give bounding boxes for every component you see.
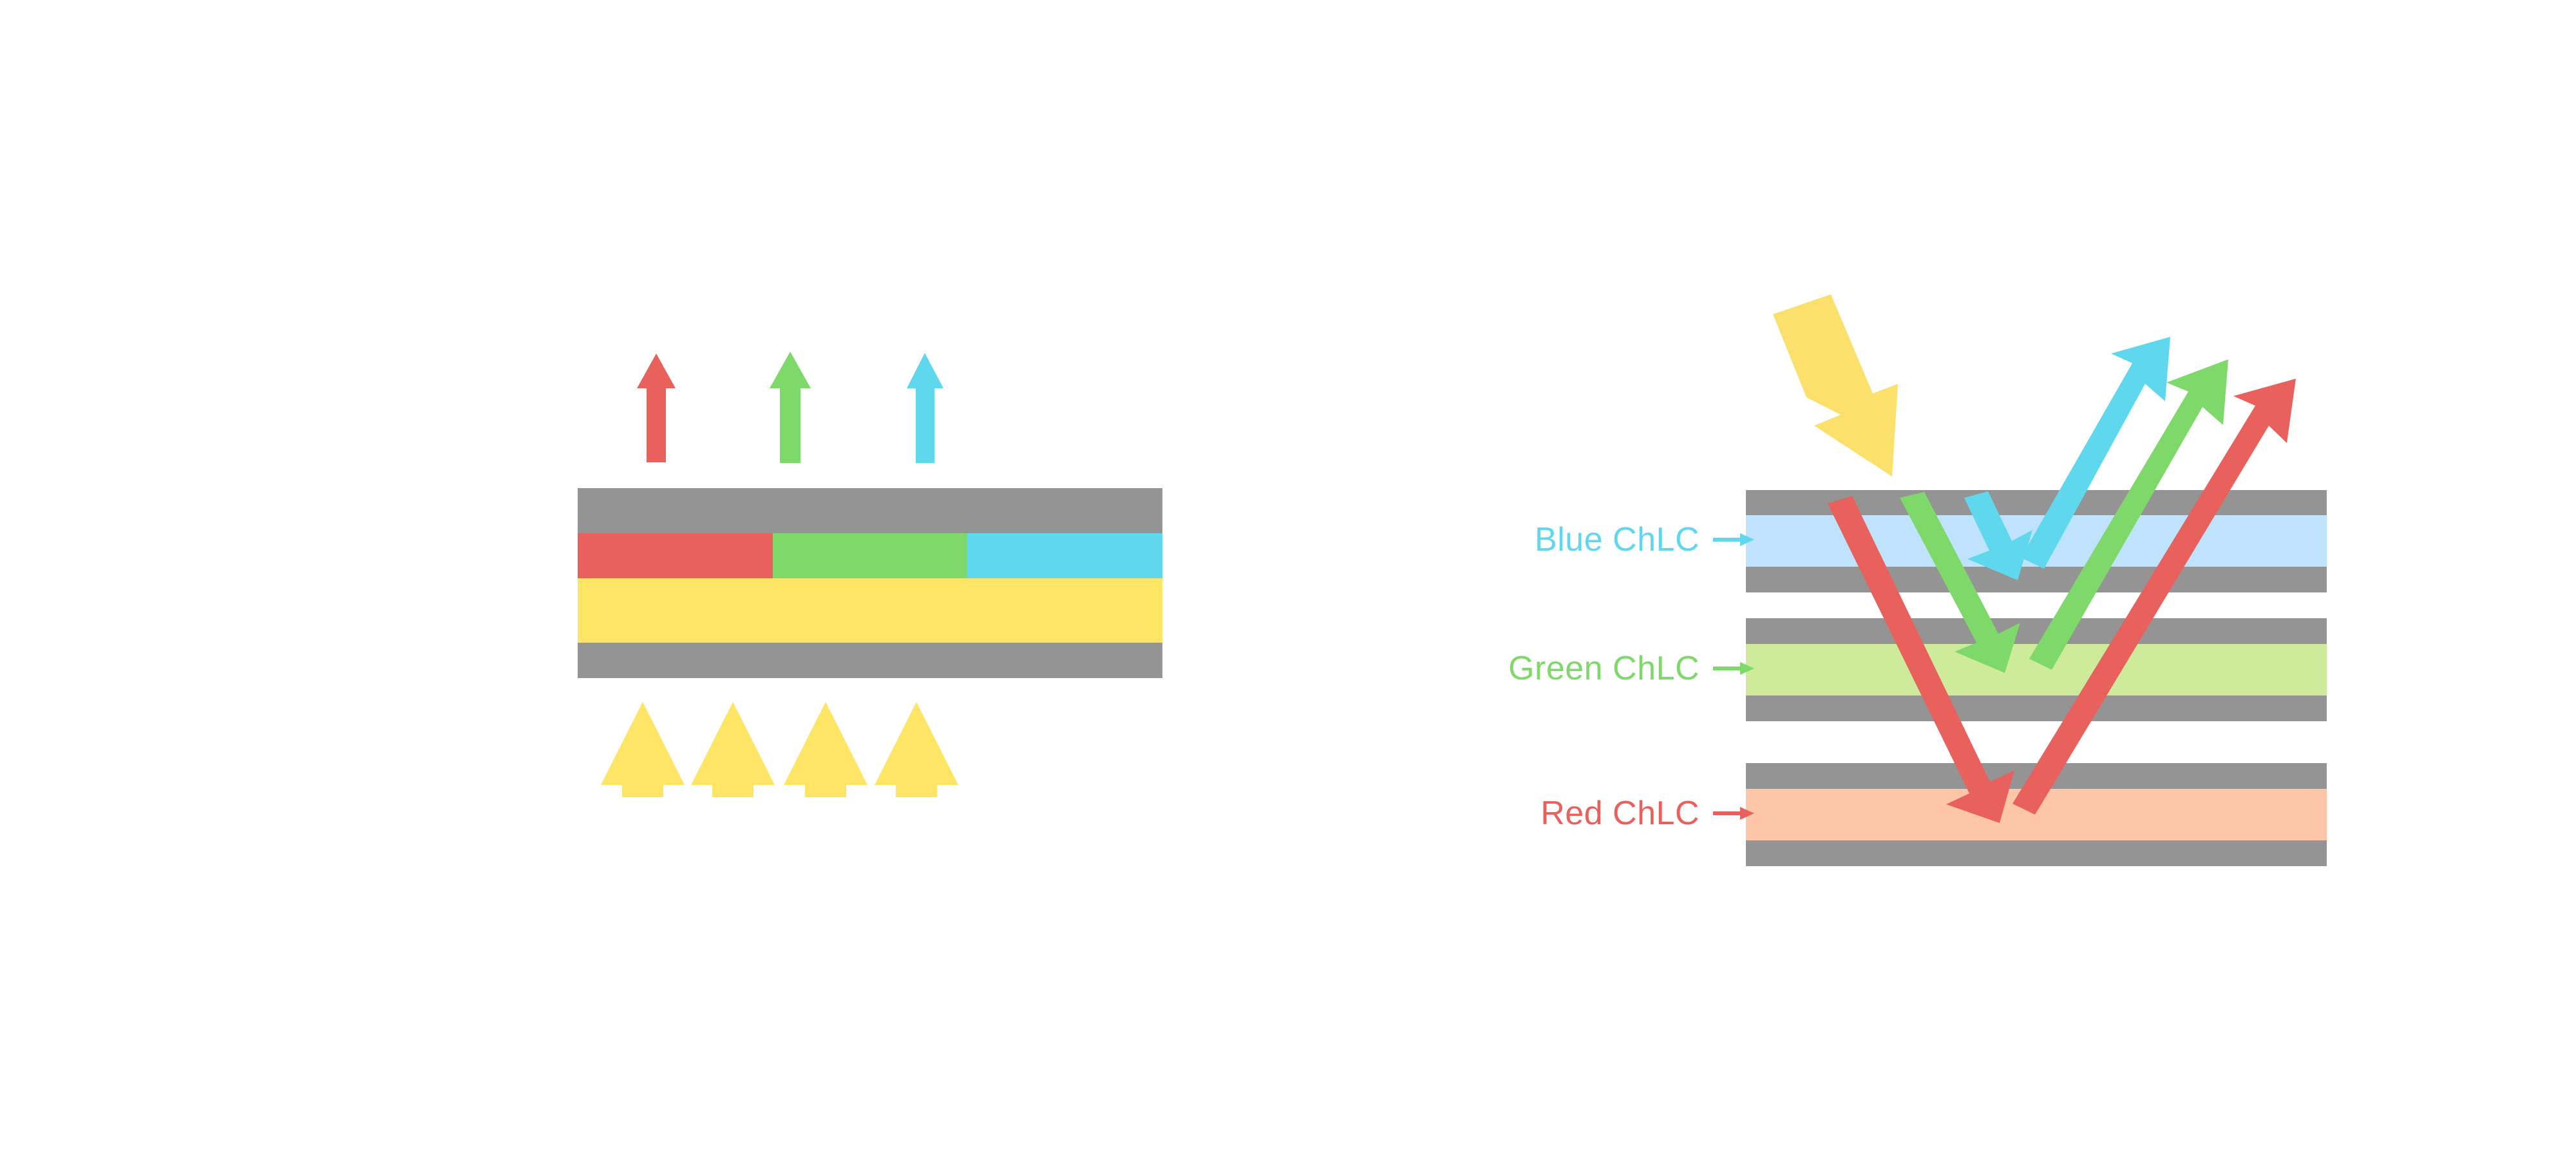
right-panel: Blue ChLC Green ChLC Red ChLC [1508,294,2327,866]
backlight-arrow-4 [875,702,958,797]
green-output-arrow [770,352,811,463]
left-top-gray-electrode [578,488,1162,533]
blue-subpixel [967,533,1162,578]
yellow-backlight-layer [578,578,1162,643]
red-outgoing-ray [2012,379,2296,815]
left-emitted-arrows [637,352,943,463]
red-chlc-label: Red ChLC [1540,795,1700,832]
left-panel [578,352,1162,797]
red-subpixel [578,533,773,578]
red-output-arrow [637,354,676,462]
left-backlight-arrows [601,702,958,797]
incident-white-light-arrow [1773,294,1898,477]
right-panel-labels: Blue ChLC Green ChLC Red ChLC [1508,521,1754,832]
figure-root: Blue ChLC Green ChLC Red ChLC [0,0,2576,1154]
left-bottom-gray-electrode [578,643,1162,678]
red-ray-pair [1828,379,2296,823]
green-chlc-cell [1746,618,2327,721]
red-cell-bottom-electrode [1746,840,2327,866]
left-stack [578,488,1162,678]
green-subpixel [773,533,967,578]
green-cell-top-electrode [1746,618,2327,644]
blue-cell-bottom-electrode [1746,567,2327,592]
chlc-display-diagram: Blue ChLC Green ChLC Red ChLC [0,0,2576,1154]
green-cell-bottom-electrode [1746,695,2327,721]
backlight-arrow-3 [784,702,867,797]
backlight-arrow-2 [691,702,775,797]
blue-output-arrow [907,353,943,463]
backlight-arrow-1 [601,702,685,797]
green-chlc-label: Green ChLC [1508,650,1700,687]
blue-chlc-label: Blue ChLC [1535,521,1700,558]
